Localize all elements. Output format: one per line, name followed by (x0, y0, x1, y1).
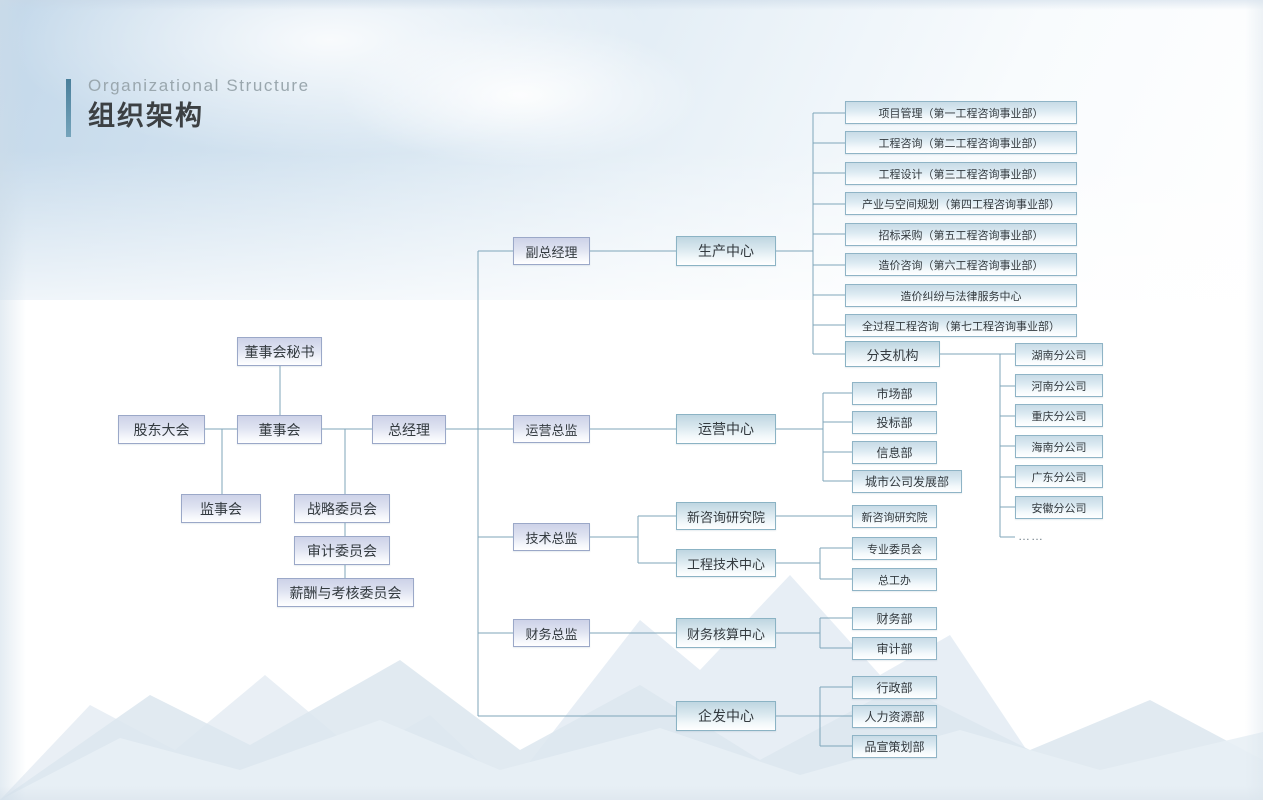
node-operations-director[interactable]: 运营总监 (513, 415, 590, 443)
production-unit-6[interactable]: 造价咨询（第六工程咨询事业部） (845, 253, 1077, 276)
node-engineering-tech-center[interactable]: 工程技术中心 (676, 549, 776, 577)
node-production-center[interactable]: 生产中心 (676, 236, 776, 266)
production-unit-3[interactable]: 工程设计（第三工程咨询事业部） (845, 162, 1077, 185)
branch-company-2[interactable]: 河南分公司 (1015, 374, 1103, 397)
node-deputy-general-manager[interactable]: 副总经理 (513, 237, 590, 265)
production-unit-2[interactable]: 工程咨询（第二工程咨询事业部） (845, 131, 1077, 154)
production-unit-1[interactable]: 项目管理（第一工程咨询事业部） (845, 101, 1077, 124)
enterprise-unit-1[interactable]: 行政部 (852, 676, 937, 699)
finance-unit-2[interactable]: 审计部 (852, 637, 937, 660)
node-operations-center[interactable]: 运营中心 (676, 414, 776, 444)
branch-company-3[interactable]: 重庆分公司 (1015, 404, 1103, 427)
node-technology-director[interactable]: 技术总监 (513, 523, 590, 551)
production-unit-8[interactable]: 全过程工程咨询（第七工程咨询事业部） (845, 314, 1077, 337)
node-remuneration-committee[interactable]: 薪酬与考核委员会 (277, 578, 414, 607)
branch-company-1[interactable]: 湖南分公司 (1015, 343, 1103, 366)
operations-unit-3[interactable]: 信息部 (852, 441, 937, 464)
operations-unit-1[interactable]: 市场部 (852, 382, 937, 405)
branch-company-4[interactable]: 海南分公司 (1015, 435, 1103, 458)
operations-unit-2[interactable]: 投标部 (852, 411, 937, 434)
node-branch-organizations[interactable]: 分支机构 (845, 341, 940, 367)
production-unit-4[interactable]: 产业与空间规划（第四工程咨询事业部） (845, 192, 1077, 215)
engineering-unit-2[interactable]: 总工办 (852, 568, 937, 591)
node-strategy-committee[interactable]: 战略委员会 (294, 494, 390, 523)
production-unit-7[interactable]: 造价纠纷与法律服务中心 (845, 284, 1077, 307)
operations-unit-4[interactable]: 城市公司发展部 (852, 470, 962, 493)
node-finance-director[interactable]: 财务总监 (513, 619, 590, 647)
node-new-consulting-institute[interactable]: 新咨询研究院 (676, 502, 776, 530)
node-supervisory-board[interactable]: 监事会 (181, 494, 261, 523)
node-board-of-directors[interactable]: 董事会 (237, 415, 322, 444)
branch-company-5[interactable]: 广东分公司 (1015, 465, 1103, 488)
node-audit-committee[interactable]: 审计委员会 (294, 536, 390, 565)
node-shareholders-meeting[interactable]: 股东大会 (118, 415, 205, 444)
engineering-unit-1[interactable]: 专业委员会 (852, 537, 937, 560)
node-general-manager[interactable]: 总经理 (372, 415, 446, 444)
enterprise-unit-2[interactable]: 人力资源部 (852, 705, 937, 728)
node-board-secretary[interactable]: 董事会秘书 (237, 337, 322, 366)
node-enterprise-development-center[interactable]: 企发中心 (676, 701, 776, 731)
branch-ellipsis: …… (1018, 529, 1044, 543)
research-unit-1[interactable]: 新咨询研究院 (852, 505, 937, 528)
organizational-structure-slide: Organizational Structure 组织架构 (0, 0, 1263, 800)
production-unit-5[interactable]: 招标采购（第五工程咨询事业部） (845, 223, 1077, 246)
branch-company-6[interactable]: 安徽分公司 (1015, 496, 1103, 519)
node-finance-accounting-center[interactable]: 财务核算中心 (676, 618, 776, 648)
enterprise-unit-3[interactable]: 品宣策划部 (852, 735, 937, 758)
finance-unit-1[interactable]: 财务部 (852, 607, 937, 630)
